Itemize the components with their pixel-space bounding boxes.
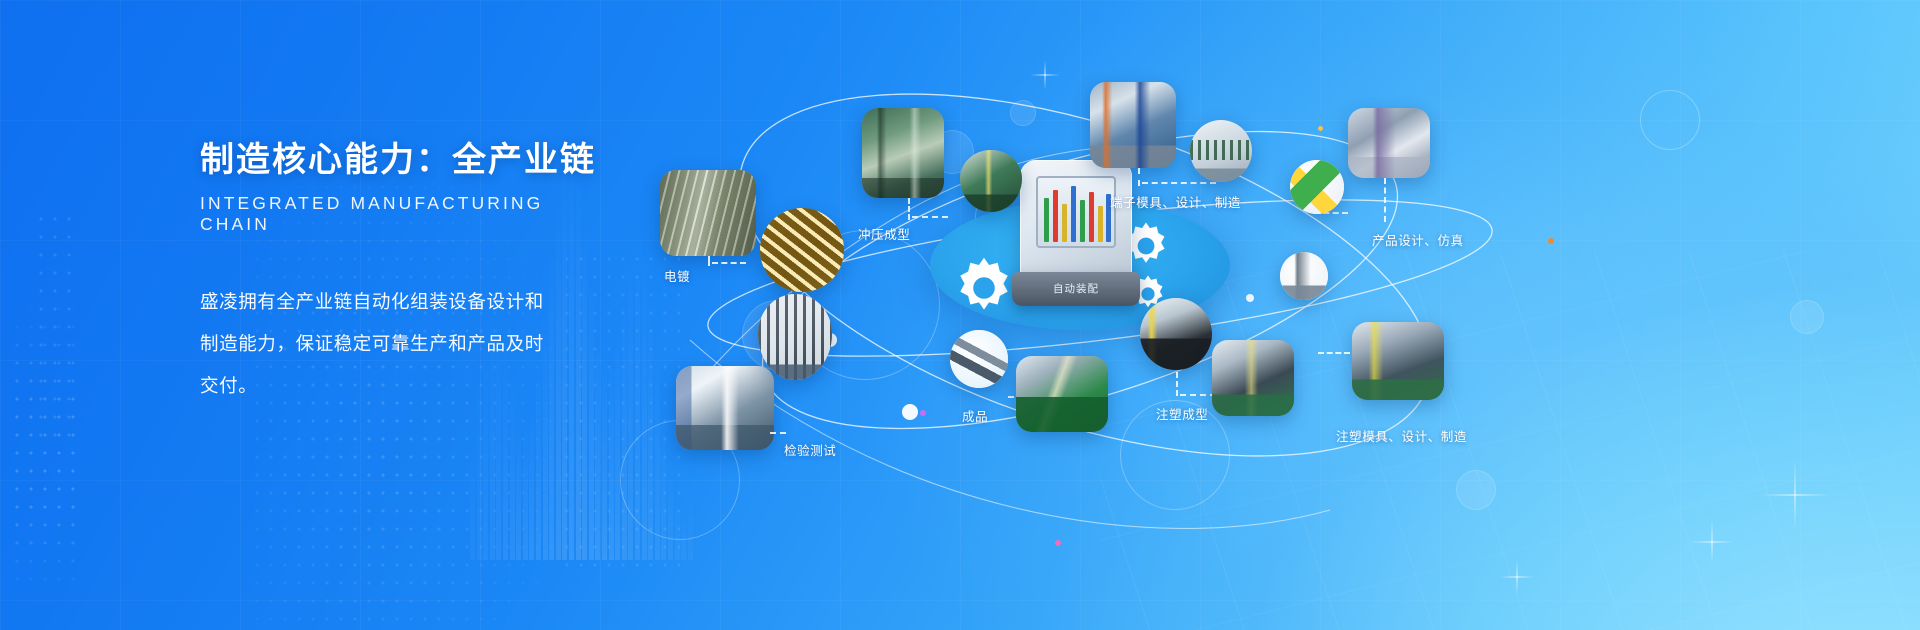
connector-dash bbox=[712, 262, 746, 264]
test-fixture-photo[interactable] bbox=[758, 294, 832, 380]
node-label-electroplating: 电镀 bbox=[664, 266, 690, 285]
node-label-inspection: 检验测试 bbox=[784, 440, 836, 459]
node-label-product-design: 产品设计、仿真 bbox=[1372, 230, 1464, 249]
cad-model-photo[interactable] bbox=[1290, 160, 1344, 214]
node-label-injection-forming: 注塑成型 bbox=[1156, 404, 1208, 423]
terminal-mold-photo[interactable] bbox=[1090, 82, 1176, 168]
connector-dash bbox=[912, 216, 948, 218]
page-subtitle: INTEGRATED MANUFACTURING CHAIN bbox=[200, 193, 620, 235]
banner-root: 制造核心能力：全产业链 INTEGRATED MANUFACTURING CHA… bbox=[0, 0, 1920, 630]
mold-half-photo[interactable] bbox=[1280, 252, 1328, 300]
connector-dash bbox=[1180, 394, 1216, 396]
connector-dash bbox=[770, 432, 786, 434]
product-design-photo[interactable] bbox=[1348, 108, 1430, 178]
node-label-terminal-mold: 端子模具、设计、制造 bbox=[1110, 192, 1241, 211]
machine-base: 自动装配 bbox=[1012, 272, 1140, 306]
assembly-line-photo[interactable] bbox=[1016, 356, 1108, 432]
connector-dash bbox=[1142, 182, 1216, 184]
connector-dash bbox=[708, 256, 710, 266]
molding-machine-photo[interactable] bbox=[1212, 340, 1294, 416]
manufacturing-chain-diagram: 自动装配 电镀 冲压成型 bbox=[630, 40, 1920, 600]
electroplating-photo[interactable] bbox=[660, 170, 756, 256]
node-label-injection-mold: 注塑模具、设计、制造 bbox=[1336, 426, 1467, 445]
banner-copy: 制造核心能力：全产业链 INTEGRATED MANUFACTURING CHA… bbox=[200, 142, 620, 406]
page-description: 盛凌拥有全产业链自动化组装设备设计和制造能力，保证稳定可靠生产和产品及时交付。 bbox=[200, 281, 560, 406]
node-label-stamping: 冲压成型 bbox=[858, 224, 910, 243]
connector-dash bbox=[908, 198, 910, 220]
mold-tool-photo[interactable] bbox=[1190, 120, 1252, 182]
stamping-press-photo[interactable] bbox=[862, 108, 944, 198]
finished-product-photo[interactable] bbox=[950, 330, 1008, 388]
connector-dash bbox=[1384, 178, 1386, 222]
connector-dash bbox=[1138, 168, 1140, 186]
page-title: 制造核心能力：全产业链 bbox=[200, 142, 620, 179]
hub-label: 自动装配 bbox=[1012, 281, 1140, 296]
node-label-finished-goods: 成品 bbox=[962, 406, 988, 425]
machine-window bbox=[1036, 176, 1116, 248]
dot-texture-left-1 bbox=[10, 300, 80, 600]
dot-texture-left-2 bbox=[34, 210, 74, 450]
stamping-detail-photo[interactable] bbox=[960, 150, 1022, 212]
automated-assembly-machine: 自动装配 bbox=[1012, 152, 1140, 302]
connector-dash bbox=[1318, 352, 1350, 354]
gold-coil-photo[interactable] bbox=[760, 208, 844, 292]
gear-icon-left bbox=[948, 252, 1020, 324]
injection-molding-photo[interactable] bbox=[1140, 298, 1212, 370]
connector-dash bbox=[1176, 372, 1178, 396]
injection-mold-photo[interactable] bbox=[1352, 322, 1444, 400]
